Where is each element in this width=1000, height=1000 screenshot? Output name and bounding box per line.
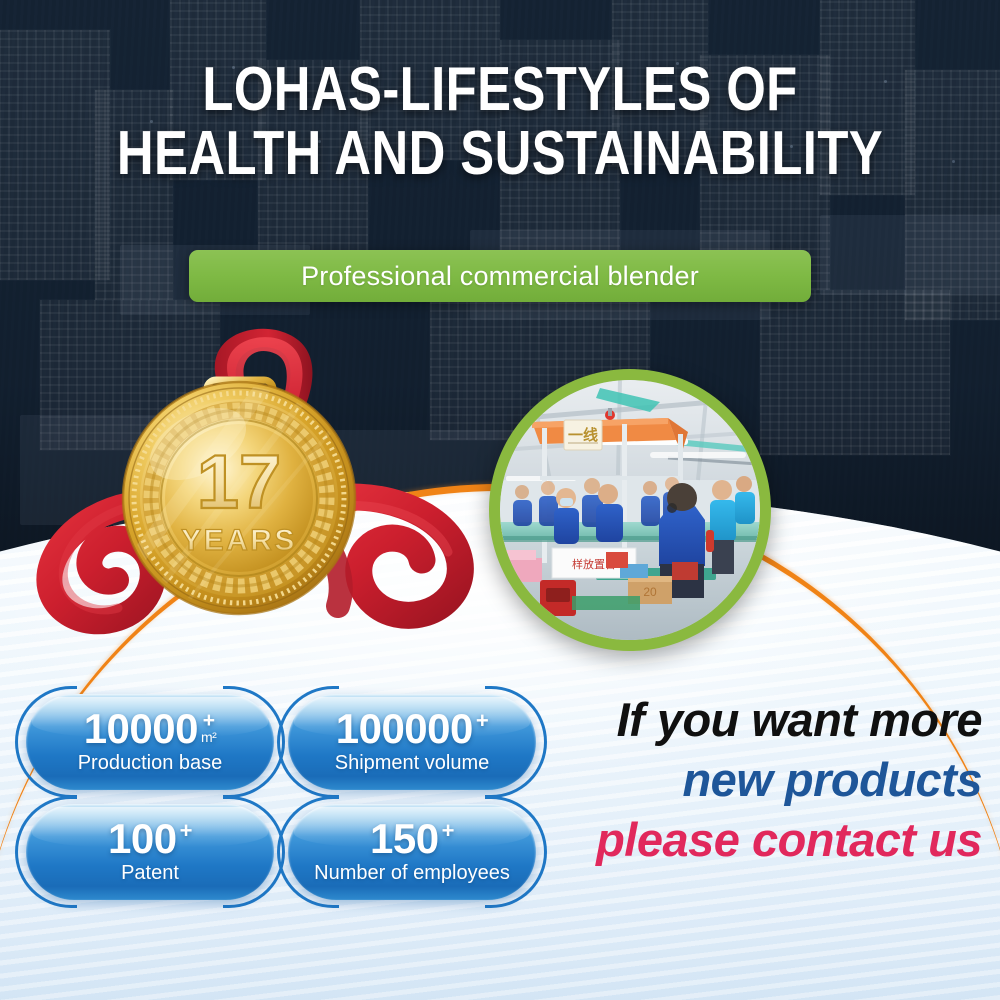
stat-value-group: 100 + [108, 819, 192, 859]
subtitle-bar: Professional commercial blender [189, 250, 811, 302]
stats-group: 10000 + m² Production base 100000 [26, 694, 566, 914]
stat-label: Patent [121, 862, 179, 885]
stat-value: 10000 [84, 709, 198, 749]
subtitle-text: Professional commercial blender [301, 261, 699, 292]
promo-text-block: If you want more new products please con… [552, 696, 982, 864]
stat-badge-production-base[interactable]: 10000 + m² Production base [26, 694, 274, 790]
factory-production-line-photo: 一线 [500, 380, 760, 640]
promo-line-2: new products [552, 756, 982, 804]
stat-value-group: 10000 + m² [84, 709, 217, 749]
stat-value: 150 [370, 819, 439, 859]
stat-plus-sign: + [442, 820, 454, 842]
factory-sign-text: 一线 [568, 426, 598, 444]
stat-value: 100000 [336, 709, 473, 749]
stat-badge-employees[interactable]: 150 + Number of employees [288, 804, 536, 900]
medal-years-label: YEARS [181, 524, 297, 557]
stats-row-bottom: 100 + Patent 150 + [26, 804, 566, 900]
stat-value-group: 100000 + [336, 709, 489, 749]
stat-unit: m² [201, 730, 216, 744]
medal-years-number: 17 [197, 440, 282, 525]
stat-badge-patent[interactable]: 100 + Patent [26, 804, 274, 900]
stat-plus-sign: + [476, 710, 488, 732]
anniversary-medal: 17 YEARS [20, 318, 490, 638]
promo-banner: LOHAS-LIFESTYLES OF HEALTH AND SUSTAINAB… [0, 0, 1000, 1000]
stat-value-group: 150 + [370, 819, 454, 859]
stat-badge-shipment-volume[interactable]: 100000 + Shipment volume [288, 694, 536, 790]
stat-value: 100 [108, 819, 177, 859]
stat-label: Number of employees [314, 862, 510, 885]
promo-line-3: please contact us [552, 816, 982, 864]
stats-row-top: 10000 + m² Production base 100000 [26, 694, 566, 790]
stat-label: Production base [78, 752, 223, 775]
factory-box-label: 20 [643, 585, 657, 599]
factory-photo-circle: 一线 [489, 369, 771, 651]
stat-label: Shipment volume [335, 752, 490, 775]
stat-plus-sign: + [180, 820, 192, 842]
promo-line-1: If you want more [552, 696, 982, 744]
